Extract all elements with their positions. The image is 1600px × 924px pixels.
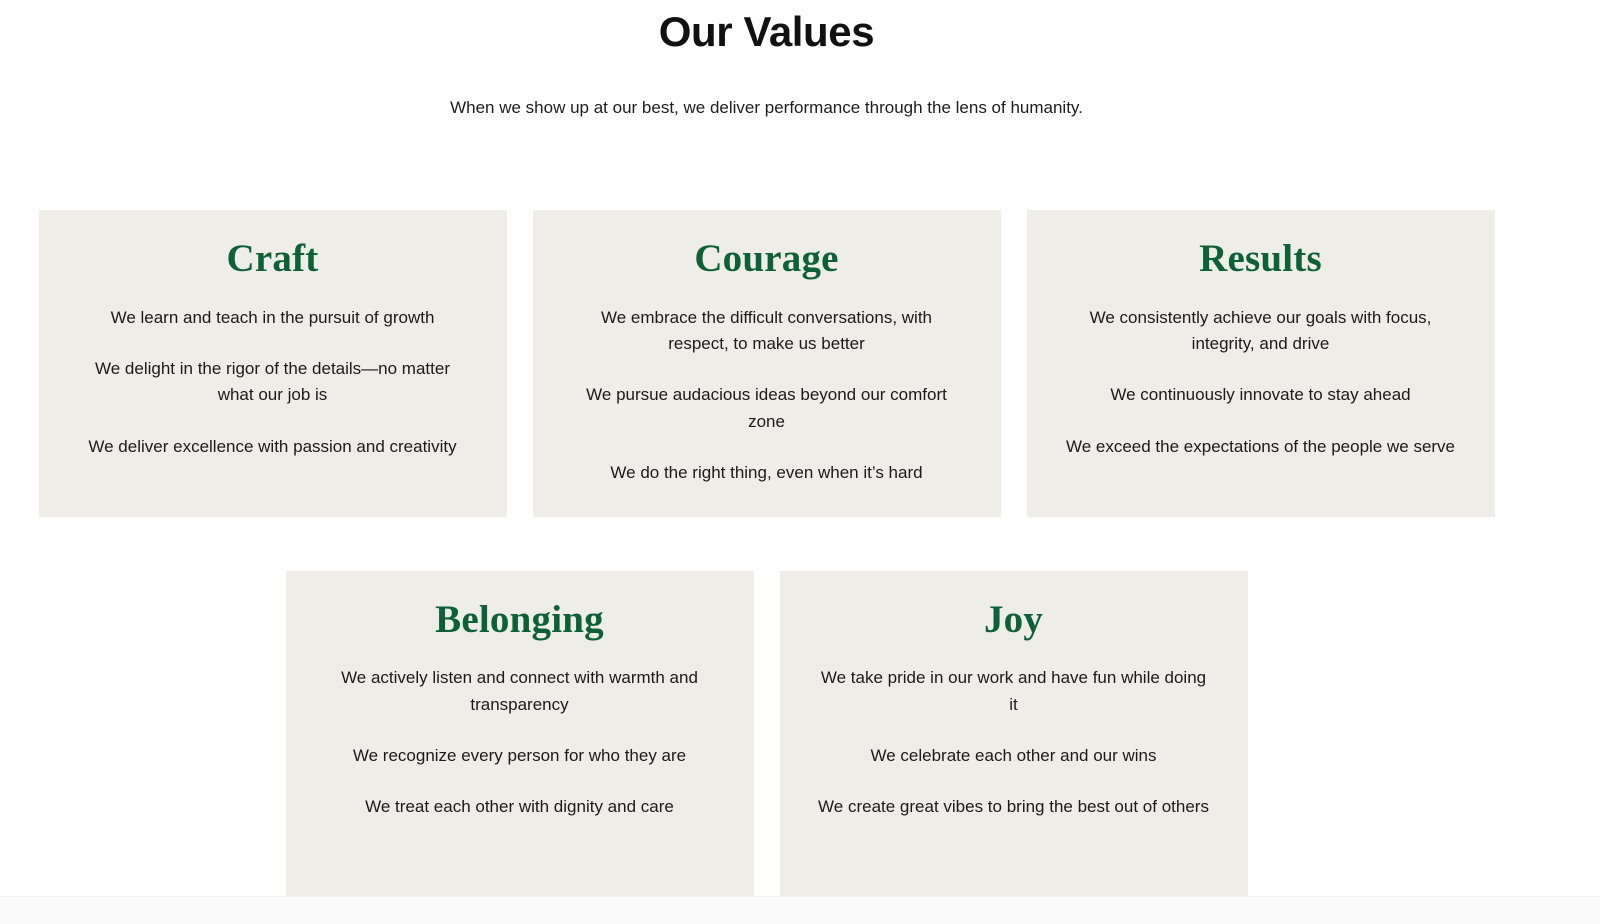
value-point: We pursue audacious ideas beyond our com… <box>571 382 963 435</box>
value-card-belonging: Belonging We actively listen and connect… <box>286 571 754 897</box>
values-grid: Craft We learn and teach in the pursuit … <box>0 210 1533 897</box>
value-point: We consistently achieve our goals with f… <box>1065 305 1457 358</box>
value-point: We actively listen and connect with warm… <box>324 665 716 718</box>
value-card-courage: Courage We embrace the difficult convers… <box>533 210 1001 517</box>
value-point: We treat each other with dignity and car… <box>324 794 716 820</box>
page-subtitle: When we show up at our best, we deliver … <box>0 56 1533 120</box>
value-point: We do the right thing, even when it’s ha… <box>571 460 963 486</box>
value-card-title: Craft <box>77 236 469 283</box>
value-point: We delight in the rigor of the details—n… <box>77 356 469 409</box>
value-card-title: Joy <box>818 597 1210 644</box>
value-point-list: We take pride in our work and have fun w… <box>818 643 1210 820</box>
values-page: Our Values When we show up at our best, … <box>0 0 1600 924</box>
value-point-list: We embrace the difficult conversations, … <box>571 283 963 487</box>
value-point: We continuously innovate to stay ahead <box>1065 382 1457 408</box>
value-point: We recognize every person for who they a… <box>324 743 716 769</box>
value-card-results: Results We consistently achieve our goal… <box>1027 210 1495 517</box>
value-point-list: We learn and teach in the pursuit of gro… <box>77 283 469 460</box>
value-point: We deliver excellence with passion and c… <box>77 434 469 460</box>
values-row-one: Craft We learn and teach in the pursuit … <box>0 210 1533 517</box>
value-point: We create great vibes to bring the best … <box>818 794 1210 820</box>
value-point: We embrace the difficult conversations, … <box>571 305 963 358</box>
value-point: We exceed the expectations of the people… <box>1065 434 1457 460</box>
page-bottom-band <box>0 896 1600 924</box>
page-header: Our Values When we show up at our best, … <box>0 0 1533 120</box>
value-point-list: We actively listen and connect with warm… <box>324 643 716 820</box>
value-card-title: Results <box>1065 236 1457 283</box>
values-row-two: Belonging We actively listen and connect… <box>0 571 1533 897</box>
value-point: We celebrate each other and our wins <box>818 743 1210 769</box>
value-point: We learn and teach in the pursuit of gro… <box>77 305 469 331</box>
value-card-title: Courage <box>571 236 963 283</box>
page-title: Our Values <box>0 8 1533 56</box>
value-card-craft: Craft We learn and teach in the pursuit … <box>39 210 507 517</box>
value-card-title: Belonging <box>324 597 716 644</box>
value-point: We take pride in our work and have fun w… <box>818 665 1210 718</box>
value-card-joy: Joy We take pride in our work and have f… <box>780 571 1248 897</box>
value-point-list: We consistently achieve our goals with f… <box>1065 283 1457 460</box>
